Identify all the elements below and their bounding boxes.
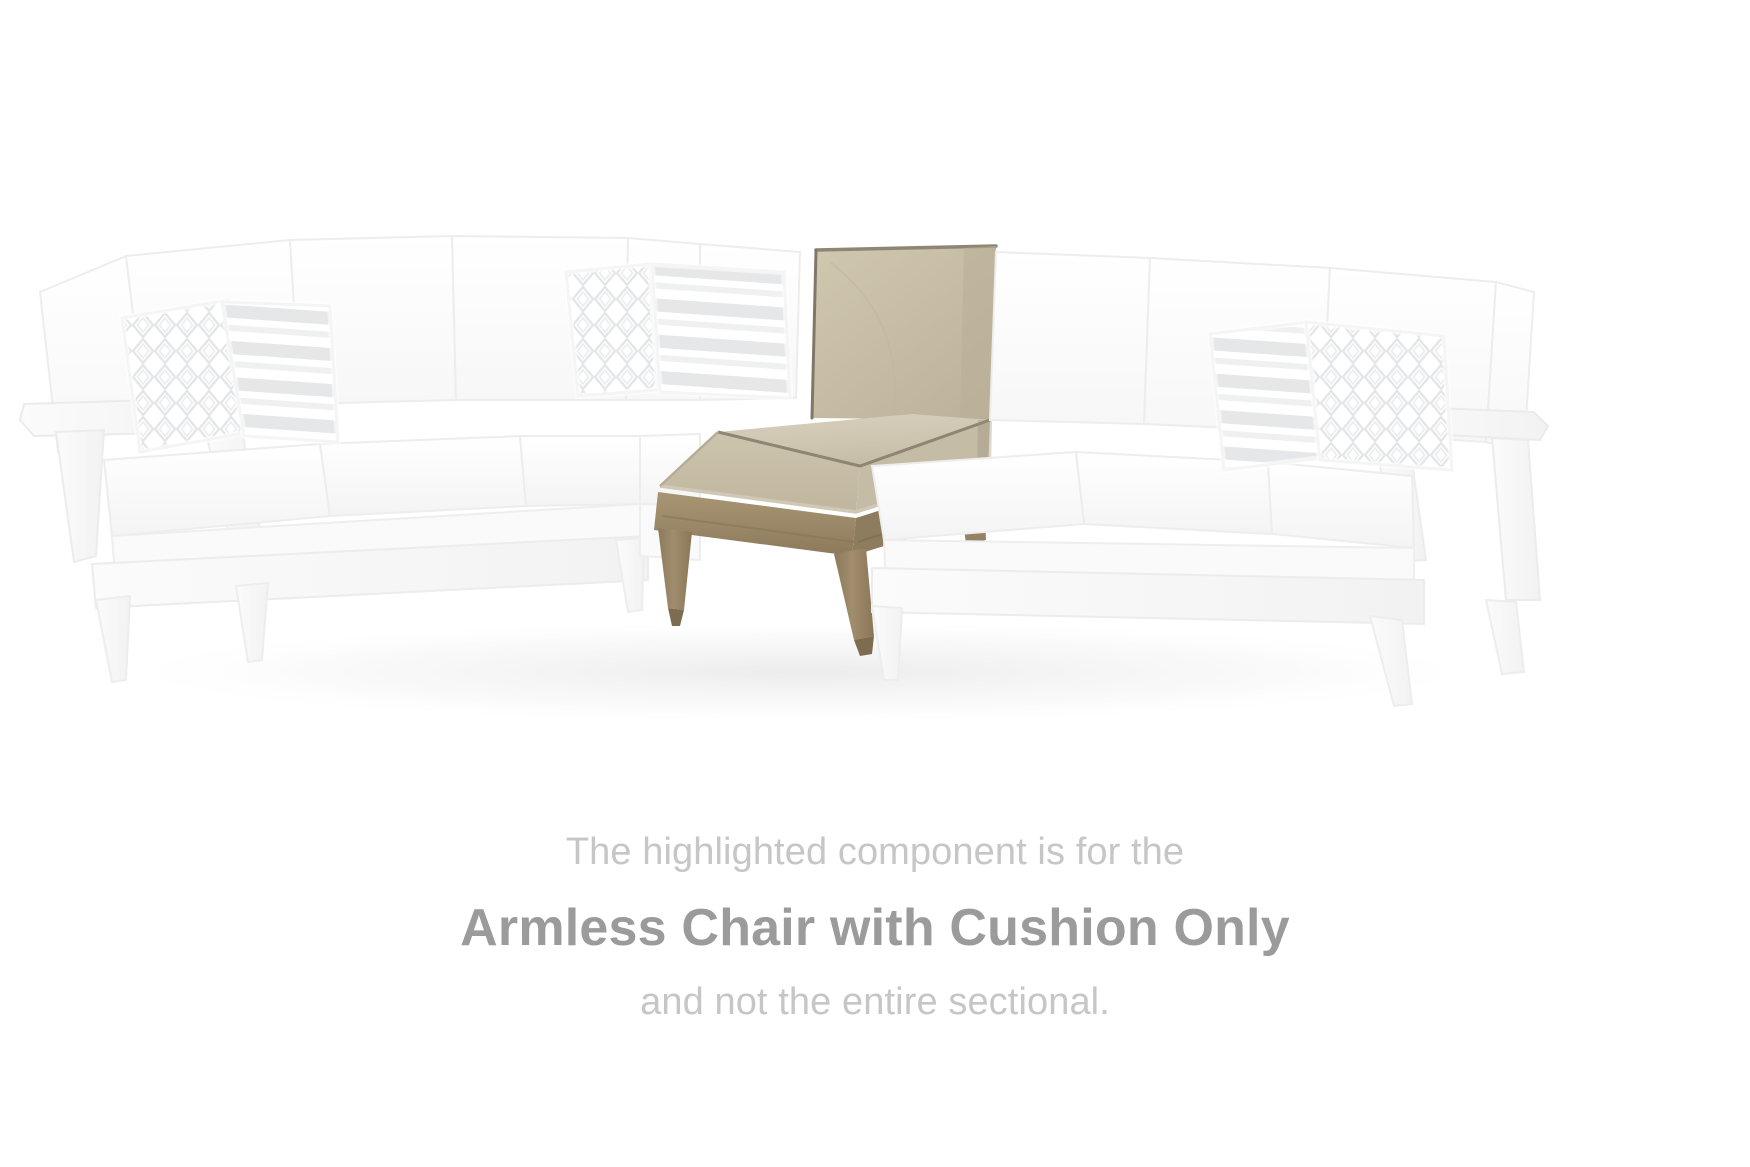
floor-shadow [100, 620, 1500, 724]
left-seat-cushion-2 [320, 436, 526, 516]
right-arm-outer-post [1492, 438, 1540, 600]
product-figure [0, 0, 1750, 800]
left-seat-cushion-3 [520, 436, 640, 506]
left-sofa-section [20, 236, 648, 682]
lattice-pillow-right [1306, 322, 1452, 470]
right-back-cushion-1 [990, 252, 1150, 424]
caption-intro-text: The highlighted component is for the [0, 828, 1750, 877]
left-seat-cushion-1 [104, 444, 330, 536]
sectional-sofa-illustration [0, 0, 1750, 800]
stripe-pillow-right [1210, 322, 1322, 470]
right-seat-cushion-1 [872, 452, 1084, 540]
screenshot-canvas: The highlighted component is for the Arm… [0, 0, 1750, 1167]
stripe-pillow-center [652, 264, 790, 398]
chair-wood-leg-front-left [658, 528, 692, 610]
lattice-pillow-center [566, 264, 658, 396]
caption-disclaimer-text: and not the entire sectional. [0, 978, 1750, 1027]
left-arm-post [56, 430, 104, 562]
right-seat-cushion-3 [1268, 462, 1414, 548]
stripe-pillow-left [222, 302, 338, 442]
right-back-leg [1486, 600, 1524, 674]
highlighted-component-title: Armless Chair with Cushion Only [0, 895, 1750, 963]
caption-block: The highlighted component is for the Arm… [0, 828, 1750, 1027]
